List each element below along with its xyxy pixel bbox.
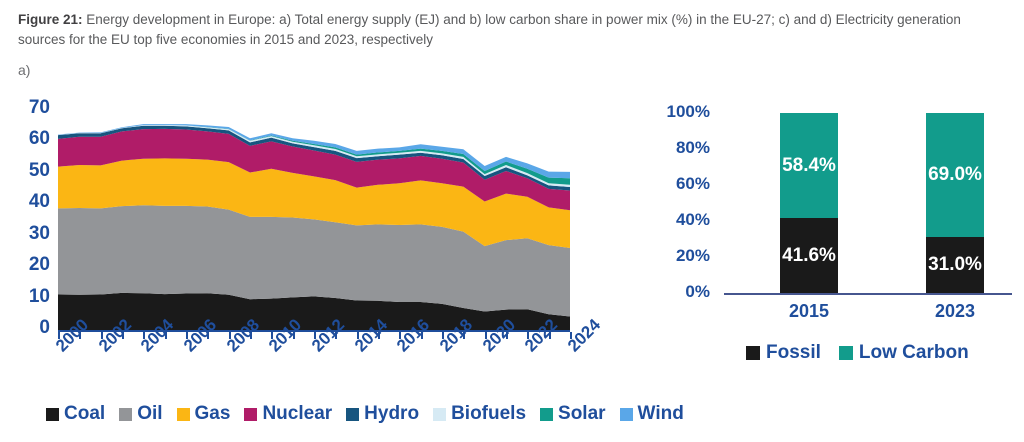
panel-b-low-carbon-share-bar-chart: b) 0%20%40%60%80%100% 58.4%41.6%69.0%31.…	[640, 0, 1024, 442]
panel-b-y-tick-100: 100%	[650, 102, 710, 122]
panel-a-y-tick-70: 70	[10, 97, 50, 119]
bar-segment-value-label: 58.4%	[782, 155, 836, 177]
panel-b-legend: FossilLow Carbon	[746, 342, 969, 364]
legend-swatch-icon	[746, 346, 760, 360]
panel-b-x-tick-2023: 2023	[910, 301, 1000, 322]
panel-b-baseline	[724, 293, 1012, 295]
legend-label: Oil	[137, 403, 162, 425]
legend-item-solar[interactable]: Solar	[540, 403, 606, 425]
legend-item-hydro[interactable]: Hydro	[346, 403, 419, 425]
panel-b-x-tick-2015: 2015	[764, 301, 854, 322]
panel-a-y-tick-50: 50	[10, 160, 50, 182]
legend-swatch-icon	[839, 346, 853, 360]
bar-segment-value-label: 69.0%	[928, 164, 982, 186]
bar-segment-low-carbon[interactable]: 58.4%	[780, 113, 838, 218]
legend-swatch-icon	[346, 408, 359, 421]
legend-swatch-icon	[46, 408, 59, 421]
legend-swatch-icon	[540, 408, 553, 421]
legend-label: Gas	[195, 403, 231, 425]
panel-a-label: a)	[18, 62, 30, 78]
legend-item-fossil[interactable]: Fossil	[746, 342, 821, 364]
legend-label: Coal	[64, 403, 105, 425]
legend-label: Fossil	[766, 342, 821, 364]
legend-item-low-carbon[interactable]: Low Carbon	[839, 342, 969, 364]
panel-b-y-tick-0: 0%	[650, 282, 710, 302]
panel-a-y-tick-20: 20	[10, 254, 50, 276]
legend-item-oil[interactable]: Oil	[119, 403, 162, 425]
legend-swatch-icon	[119, 408, 132, 421]
legend-swatch-icon	[620, 408, 633, 421]
panel-a-y-tick-60: 60	[10, 128, 50, 150]
panel-a-x-tick-2024: 2024	[564, 315, 605, 356]
bar-segment-value-label: 31.0%	[928, 254, 982, 276]
stacked-area-plot	[58, 110, 570, 330]
panel-b-y-tick-60: 60%	[650, 174, 710, 194]
panel-a-y-tick-40: 40	[10, 191, 50, 213]
legend-label: Biofuels	[451, 403, 526, 425]
panel-a-y-tick-10: 10	[10, 286, 50, 308]
panel-a-legend: CoalOilGasNuclearHydroBiofuelsSolarWind	[46, 403, 684, 425]
legend-item-nuclear[interactable]: Nuclear	[244, 403, 332, 425]
panel-a-y-tick-0: 0	[10, 317, 50, 339]
panel-a-energy-supply-area-chart: a) 010203040506070 200020022004200620082…	[0, 0, 620, 442]
legend-swatch-icon	[433, 408, 446, 421]
legend-swatch-icon	[244, 408, 257, 421]
bar-segment-low-carbon[interactable]: 69.0%	[926, 113, 984, 237]
panel-b-y-tick-20: 20%	[650, 246, 710, 266]
panel-b-y-tick-80: 80%	[650, 138, 710, 158]
legend-item-biofuels[interactable]: Biofuels	[433, 403, 526, 425]
legend-label: Low Carbon	[859, 342, 969, 364]
bar-segment-fossil[interactable]: 41.6%	[780, 218, 838, 293]
bar-segment-fossil[interactable]: 31.0%	[926, 237, 984, 293]
legend-label: Solar	[558, 403, 606, 425]
legend-label: Hydro	[364, 403, 419, 425]
bar-segment-value-label: 41.6%	[782, 245, 836, 267]
panel-b-y-tick-40: 40%	[650, 210, 710, 230]
legend-swatch-icon	[177, 408, 190, 421]
legend-label: Nuclear	[262, 403, 332, 425]
legend-item-gas[interactable]: Gas	[177, 403, 231, 425]
panel-a-y-tick-30: 30	[10, 223, 50, 245]
bar-column-2015[interactable]: 58.4%41.6%	[780, 113, 838, 293]
bar-plot-area: 58.4%41.6%69.0%31.0%	[724, 113, 1012, 293]
legend-item-coal[interactable]: Coal	[46, 403, 105, 425]
bar-column-2023[interactable]: 69.0%31.0%	[926, 113, 984, 293]
